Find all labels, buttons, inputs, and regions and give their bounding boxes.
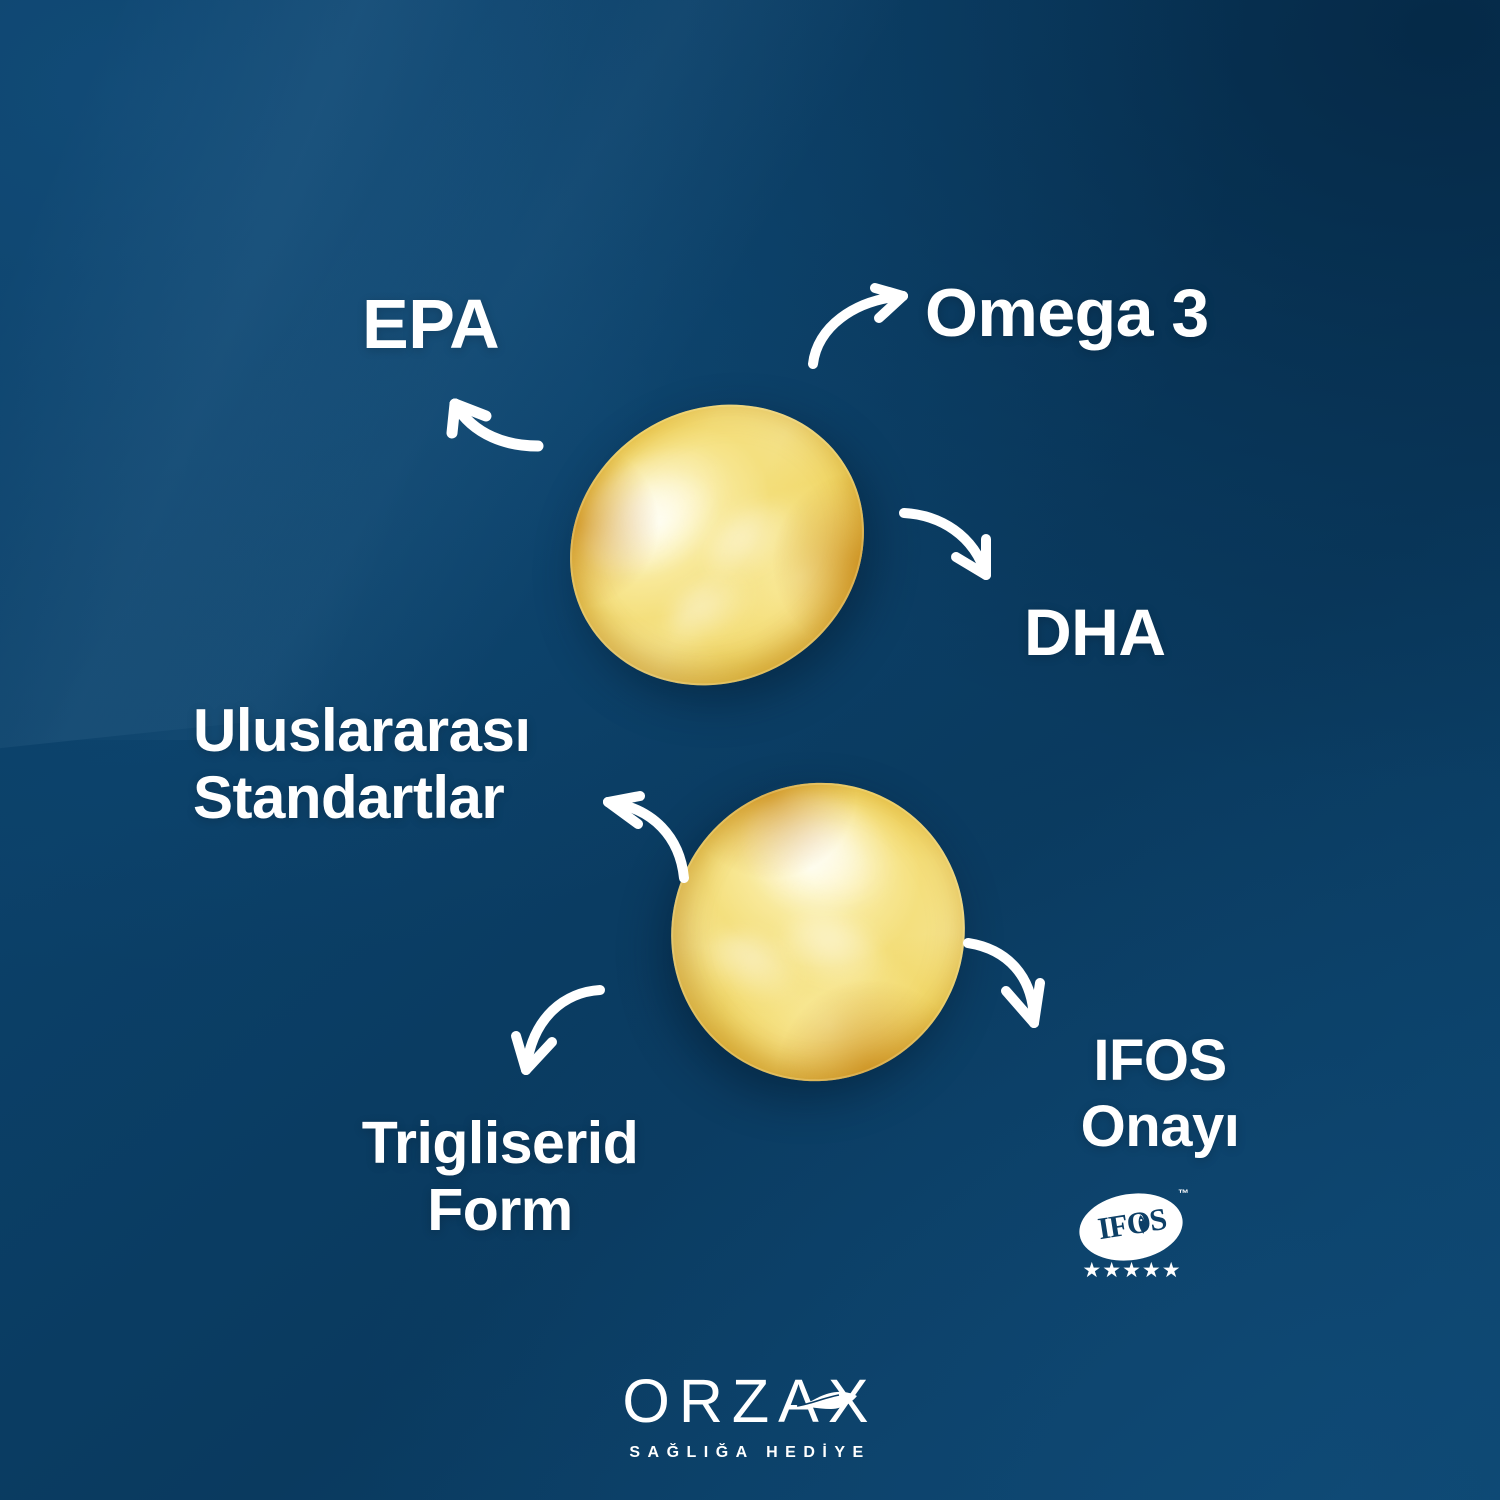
capsule-rim <box>517 350 917 741</box>
arrow-to-epa-icon <box>430 378 550 458</box>
badge-trademark-symbol: ™ <box>1178 1188 1189 1200</box>
logo-leaf-icon <box>793 1387 859 1415</box>
badge-star-rating: ★★★★★ <box>1073 1260 1191 1281</box>
background-light-sweep <box>0 0 1141 785</box>
logo-brand-name: ORZAX <box>622 1366 877 1436</box>
ifos-certification-badge: IFOS ™ ★★★★★ <box>1073 1190 1191 1285</box>
arrow-to-triglyceride-form-icon <box>498 978 618 1083</box>
label-dha: DHA <box>1024 598 1166 668</box>
arrow-to-dha-icon <box>898 505 1018 595</box>
label-international-standards: Uluslararası Standartlar <box>193 697 531 831</box>
label-ifos-approval: IFOS Onayı <box>1070 1028 1250 1159</box>
logo-tagline: SAĞLIĞA HEDİYE <box>0 1444 1500 1462</box>
label-omega3: Omega 3 <box>925 277 1209 349</box>
arrow-to-international-standards-icon <box>588 778 708 888</box>
arrow-to-omega3-icon <box>805 282 925 372</box>
arrow-to-ifos-icon <box>962 935 1082 1040</box>
orzax-logo: ORZAX SAĞLIĞA HEDİYE <box>0 1366 1500 1462</box>
omega3-product-graphic: EPA Omega 3 DHA Uluslararası Standartlar… <box>0 0 1500 1500</box>
badge-fish-icon <box>1132 1213 1151 1237</box>
label-triglyceride-form: Trigliserid Form <box>355 1110 645 1243</box>
label-epa: EPA <box>362 287 499 361</box>
softgel-capsule-top <box>517 350 917 741</box>
